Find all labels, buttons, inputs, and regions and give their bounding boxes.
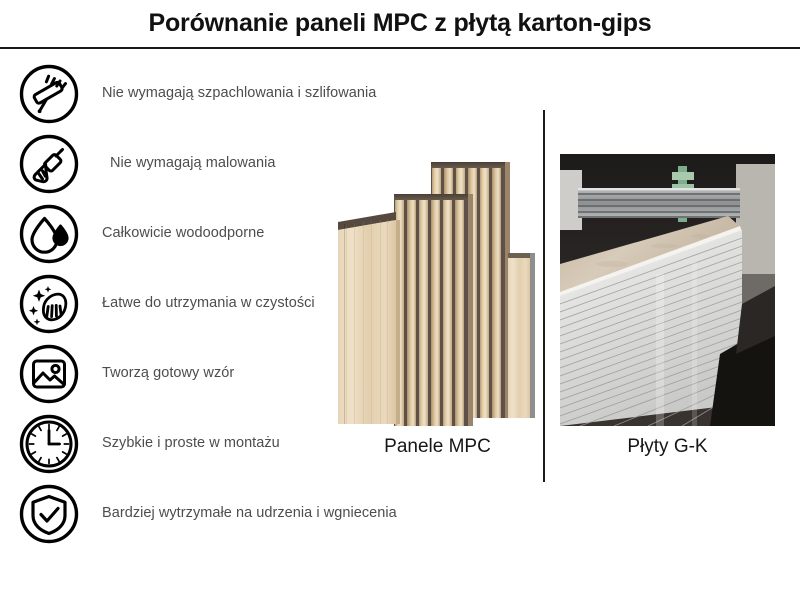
comparison-infographic: Porównanie paneli MPC z płytą karton-gip… (0, 0, 800, 600)
gypsum-board-stack-photo (560, 154, 775, 426)
comparison-caption-mpc: Panele MPC (330, 436, 545, 458)
feature-label: Nie wymagają szpachlowania i szlifowania (102, 85, 376, 101)
feature-label: Całkowicie wodoodporne (102, 225, 264, 241)
page-title: Porównanie paneli MPC z płytą karton-gip… (0, 9, 800, 38)
comparison-caption-gk: Płyty G-K (560, 436, 775, 458)
feature-label: Łatwe do utrzymania w czystości (102, 295, 315, 311)
comparison-column-gk: Płyty G-K (560, 150, 775, 480)
header: Porównanie paneli MPC z płytą karton-gip… (0, 0, 800, 49)
shield-check-icon (18, 483, 80, 545)
clock-icon (18, 413, 80, 475)
comparison-area: Panele MPC (330, 150, 790, 480)
feature-label: Nie wymagają malowania (110, 155, 276, 171)
comparison-column-mpc: Panele MPC (330, 150, 545, 480)
feature-label: Bardziej wytrzymałe na udrzenia i wgniec… (102, 505, 397, 521)
feature-label: Szybkie i proste w montażu (102, 435, 280, 451)
header-divider (0, 47, 800, 49)
paint-brush-icon (18, 133, 80, 195)
feature-label: Tworzą gotowy wzór (102, 365, 234, 381)
trowel-icon (18, 63, 80, 125)
feature-row: Nie wymagają szpachlowania i szlifowania (18, 63, 498, 133)
cleaning-hand-icon (18, 273, 80, 335)
feature-row: Bardziej wytrzymałe na udrzenia i wgniec… (18, 483, 498, 553)
water-drop-icon (18, 203, 80, 265)
mpc-slat-panels-image (330, 150, 545, 426)
picture-icon (18, 343, 80, 405)
